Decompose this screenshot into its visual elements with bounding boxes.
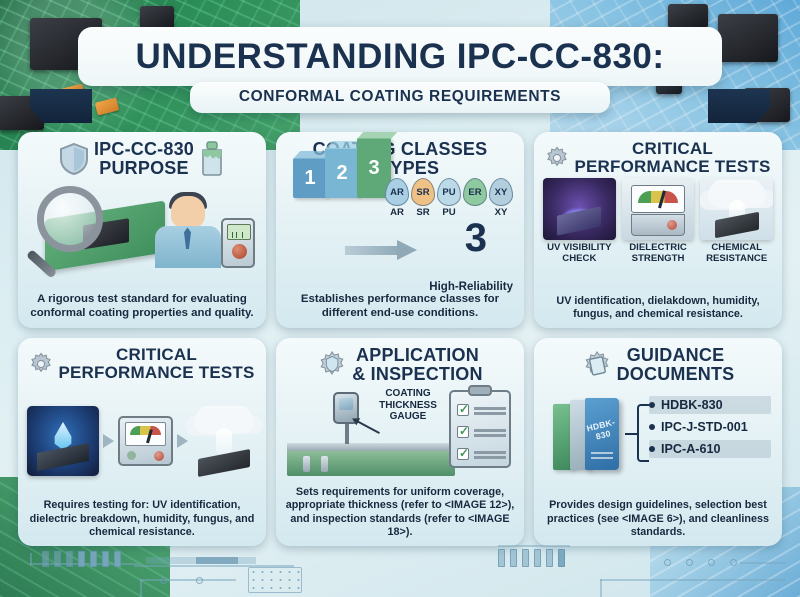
card-illustration: [27, 384, 257, 497]
card-header: GUIDANCE DOCUMENTS: [543, 346, 773, 383]
card-body-text: Provides design guidelines, selection be…: [543, 499, 773, 539]
document-gear-icon: [582, 350, 612, 380]
card-illustration: [27, 180, 257, 291]
page-title: UNDERSTANDING IPC-CC-830:: [96, 39, 704, 76]
droplet-icon: AR: [385, 178, 409, 206]
card-header: CRITICAL PERFORMANCE TESTS: [27, 346, 257, 381]
arrow-icon: [103, 434, 114, 448]
footer-circuit-pattern: [0, 545, 800, 597]
card-illustration: UV VISIBILITY CHECK DIELECTRIC STRENGTH: [543, 178, 773, 292]
class-block-1: 1: [293, 158, 327, 198]
document-item[interactable]: IPC-A-610: [649, 440, 771, 458]
magnifier-icon: [37, 186, 103, 252]
title-plate: UNDERSTANDING IPC-CC-830:: [78, 27, 722, 86]
coating-type-badges: AR AR SR SR PU PU: [385, 178, 513, 218]
ribbon-tail-right: [708, 89, 770, 123]
analog-meter-icon: [118, 416, 173, 466]
card-body-text: Sets requirements for uniform coverage, …: [285, 486, 515, 539]
banner: UNDERSTANDING IPC-CC-830: CONFORMAL COAT…: [78, 27, 722, 113]
card-grid: IPC-CC-830 PURPOSE: [18, 132, 782, 546]
steam-chip-icon: [192, 406, 257, 476]
card-header: CRITICAL PERFORMANCE TESTS: [543, 140, 773, 175]
card-illustration: CLASS 1 2 3: [285, 180, 515, 291]
highlight-value: 3: [465, 218, 487, 258]
tile-caption: DIELECTRIC STRENGTH: [622, 243, 695, 264]
test-tile-uv: UV VISIBILITY CHECK: [543, 178, 616, 292]
card-illustration: HDBK-830 HDBK-830 IPC-J-STD-001 IPC-A-61…: [543, 386, 773, 497]
analog-meter-icon: [622, 178, 695, 240]
arrow-icon: [177, 434, 188, 448]
card-body-text: A rigorous test standard for evaluating …: [27, 293, 257, 321]
page-subtitle: CONFORMAL COATING REQUIREMENTS: [200, 88, 600, 106]
inspection-clipboard-icon: [449, 390, 511, 468]
class-block-2: 2: [325, 148, 359, 198]
droplet-icon: SR: [411, 178, 435, 206]
card-purpose: IPC-CC-830 PURPOSE: [18, 132, 266, 328]
test-tile-chemical: CHEMICAL RESISTANCE: [700, 178, 773, 292]
card-coating-classes: COATING CLASSES & TYPES CLASS 1 2: [276, 132, 524, 328]
type-badge-er: ER: [463, 178, 487, 218]
card-critical-tests-top: CRITICAL PERFORMANCE TESTS UV VISIBILITY…: [534, 132, 782, 328]
card-header: IPC-CC-830 PURPOSE: [27, 140, 257, 177]
type-badge-pu: PU PU: [437, 178, 461, 218]
shield-icon: [59, 142, 89, 176]
document-list: HDBK-830 IPC-J-STD-001 IPC-A-610: [649, 396, 771, 462]
tile-caption: UV VISIBILITY CHECK: [543, 243, 616, 264]
card-critical-tests-bottom: CRITICAL PERFORMANCE TESTS: [18, 338, 266, 546]
type-badge-xy: XY XY: [489, 178, 513, 218]
book-spine-label: HDBK-830: [580, 416, 624, 445]
infographic-canvas: UNDERSTANDING IPC-CC-830: CONFORMAL COAT…: [0, 0, 800, 597]
book-stack-icon: HDBK-830: [551, 394, 643, 470]
droplet-chip-panel-icon: [27, 406, 99, 476]
droplet-icon: XY: [489, 178, 513, 206]
card-title: APPLICATION & INSPECTION: [352, 346, 482, 383]
coating-gear-icon: [317, 350, 347, 380]
test-tile-dielectric: DIELECTRIC STRENGTH: [622, 178, 695, 292]
ribbon-tail-left: [30, 89, 92, 123]
tile-caption: CHEMICAL RESISTANCE: [700, 243, 773, 264]
type-badge-ar: AR AR: [385, 178, 409, 218]
technician-head: [171, 196, 205, 228]
handheld-meter-icon: [221, 218, 255, 268]
coating-can-icon: [199, 141, 225, 177]
document-item[interactable]: IPC-J-STD-001: [649, 418, 771, 436]
gear-icon: [545, 146, 569, 170]
document-item[interactable]: HDBK-830: [649, 396, 771, 414]
coated-board-art: [287, 450, 455, 476]
card-header: APPLICATION & INSPECTION: [285, 346, 515, 383]
droplet-icon: PU: [437, 178, 461, 206]
subtitle-plate: CONFORMAL COATING REQUIREMENTS: [190, 82, 610, 113]
card-title: CRITICAL PERFORMANCE TESTS: [58, 346, 254, 381]
card-title: GUIDANCE DOCUMENTS: [617, 346, 735, 383]
card-body-text: UV identification, dielakdown, humidity,…: [543, 295, 773, 321]
card-guidance-documents: GUIDANCE DOCUMENTS HDBK-830 HDBK-830 IPC…: [534, 338, 782, 546]
card-body-text: Requires testing for: UV identification,…: [27, 499, 257, 539]
bracket-connector: [637, 404, 649, 462]
steam-chip-icon: [700, 178, 773, 240]
uv-chip-panel-icon: [543, 178, 616, 240]
gear-icon: [29, 352, 53, 376]
droplet-icon: ER: [463, 178, 487, 206]
card-title: IPC-CC-830 PURPOSE: [94, 140, 194, 177]
card-title: CRITICAL PERFORMANCE TESTS: [574, 140, 770, 175]
card-illustration: COATING THICKNESS GAUGE: [285, 386, 515, 484]
gauge-callout-label: COATING THICKNESS GAUGE: [365, 388, 451, 423]
highlight-label: High-Reliability: [429, 281, 513, 293]
card-application-inspection: APPLICATION & INSPECTION COATING THICKNE…: [276, 338, 524, 546]
arrow-icon: [345, 242, 421, 257]
type-badge-sr: SR SR: [411, 178, 435, 218]
card-body-text: Establishes performance classes for diff…: [285, 293, 515, 321]
